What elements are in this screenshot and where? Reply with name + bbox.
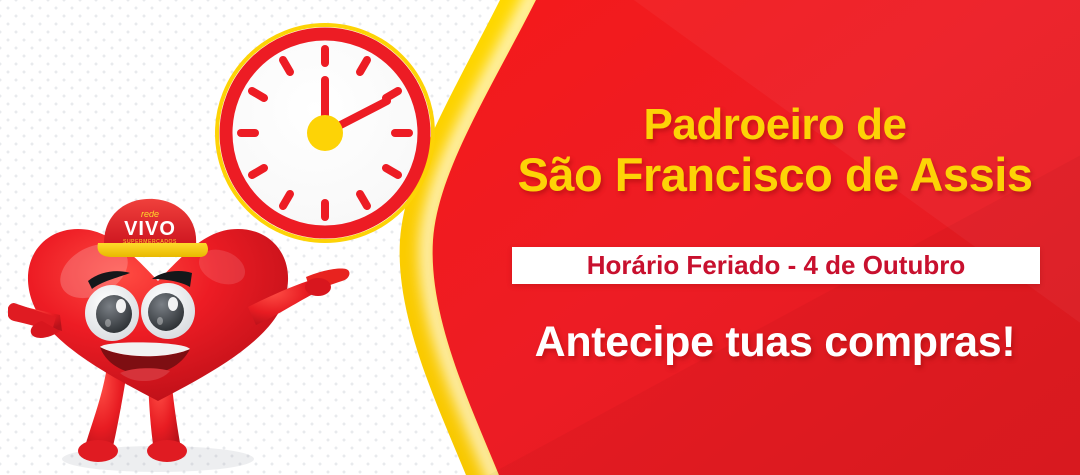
cap-crown (104, 199, 196, 245)
mascot-cap: rede VIVO SUPERMERCADOS (98, 199, 208, 257)
promo-banner: rede VIVO SUPERMERCADOS (0, 0, 1080, 475)
headline-line-2: São Francisco de Assis (470, 149, 1080, 202)
cap-brim (98, 243, 208, 257)
page-title: Padroeiro de São Francisco de Assis (470, 100, 1080, 202)
status-badge: Horário Feriado - 4 de Outubro (512, 247, 1040, 284)
date-badge-label: Horário Feriado - 4 de Outubro (587, 250, 965, 281)
call-to-action-text: Antecipe tuas compras! (470, 318, 1080, 367)
clock-center-hub (307, 115, 343, 151)
headline-line-1: Padroeiro de (470, 100, 1080, 149)
heart-mascot: rede VIVO SUPERMERCADOS (8, 195, 353, 475)
